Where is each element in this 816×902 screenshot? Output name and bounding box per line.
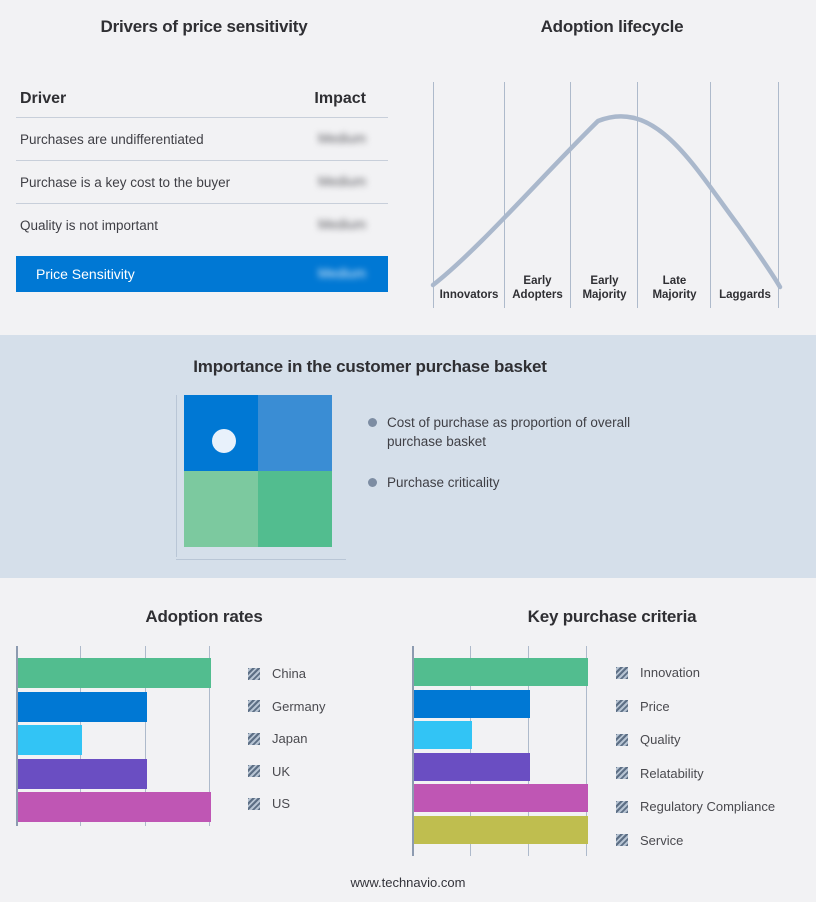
legend-label: Innovation <box>640 665 700 680</box>
adoption-rates-chart: ChinaGermanyJapanUKUS <box>16 646 396 826</box>
legend-item[interactable]: Regulatory Compliance <box>616 799 775 814</box>
table-row[interactable]: Quality is not important Medium <box>16 203 388 246</box>
quadrant-top-left <box>184 395 258 471</box>
bar-innovation[interactable] <box>414 658 588 686</box>
bullet-icon <box>368 478 377 487</box>
summary-label: Price Sensitivity <box>36 266 274 282</box>
stage-label-early-majority: Early Majority <box>571 274 638 302</box>
hatched-swatch-icon <box>616 700 628 712</box>
legend-label: Service <box>640 833 683 848</box>
impact-cell: Medium <box>274 130 384 148</box>
legend-item[interactable]: Quality <box>616 732 680 747</box>
bar-us[interactable] <box>18 792 211 822</box>
hatched-swatch-icon <box>616 734 628 746</box>
legend-label: Regulatory Compliance <box>640 799 775 814</box>
purchase-basket-title: Importance in the customer purchase bask… <box>0 357 740 377</box>
table-row[interactable]: Purchases are undifferentiated Medium <box>16 117 388 160</box>
legend-label: Price <box>640 699 670 714</box>
bar-service[interactable] <box>414 816 588 844</box>
legend-label: Relatability <box>640 766 704 781</box>
bar-china[interactable] <box>18 658 211 688</box>
legend-label: UK <box>272 764 290 779</box>
hatched-swatch-icon <box>248 668 260 680</box>
legend-item[interactable]: US <box>248 796 290 811</box>
stage-label-early-adopters: Early Adopters <box>504 274 571 302</box>
drivers-panel: Drivers of price sensitivity Driver Impa… <box>0 0 408 335</box>
legend-item: Cost of purchase as proportion of overal… <box>368 413 698 451</box>
legend-item[interactable]: Germany <box>248 699 325 714</box>
legend-item[interactable]: Price <box>616 699 670 714</box>
legend-item[interactable]: Innovation <box>616 665 700 680</box>
position-marker-dot <box>212 429 236 453</box>
legend-label: US <box>272 796 290 811</box>
basket-legend: Cost of purchase as proportion of overal… <box>368 413 698 514</box>
legend-label: Quality <box>640 732 680 747</box>
plot-area <box>412 646 598 856</box>
summary-impact-cell: Medium <box>274 265 384 283</box>
table-header-row: Driver Impact <box>16 90 388 117</box>
hatched-swatch-icon <box>248 733 260 745</box>
bar-regulatory-compliance[interactable] <box>414 784 588 812</box>
driver-name: Quality is not important <box>20 218 274 233</box>
hatched-swatch-icon <box>248 700 260 712</box>
impact-cell: Medium <box>274 173 384 191</box>
impact-cell: Medium <box>274 216 384 234</box>
drivers-table: Driver Impact Purchases are undifferenti… <box>16 90 388 292</box>
key-purchase-criteria-chart: InnovationPriceQualityRelatabilityRegula… <box>412 646 812 856</box>
legend-item[interactable]: Japan <box>248 731 307 746</box>
purchase-basket-panel: Importance in the customer purchase bask… <box>0 335 816 578</box>
impact-value: Medium <box>318 217 366 232</box>
hatched-swatch-icon <box>248 798 260 810</box>
legend-label: China <box>272 666 306 681</box>
impact-value: Medium <box>318 174 366 189</box>
bar-quality[interactable] <box>414 721 472 749</box>
footer-url: www.technavio.com <box>0 875 816 890</box>
adoption-lifecycle-panel: Adoption lifecycle Innovators Early Adop… <box>408 0 816 335</box>
bar-uk[interactable] <box>18 759 147 789</box>
stage-label-laggards: Laggards <box>711 288 779 302</box>
column-header-driver: Driver <box>20 90 274 108</box>
legend-item[interactable]: UK <box>248 764 290 779</box>
adoption-rates-panel: Adoption rates ChinaGermanyJapanUKUS <box>0 578 408 902</box>
matrix-grid <box>184 395 332 547</box>
adoption-rates-title: Adoption rates <box>0 607 408 627</box>
column-header-impact: Impact <box>274 90 384 108</box>
driver-name: Purchase is a key cost to the buyer <box>20 175 274 190</box>
legend-item[interactable]: Relatability <box>616 766 704 781</box>
legend-item[interactable]: China <box>248 666 306 681</box>
legend-label: Japan <box>272 731 307 746</box>
lifecycle-stage-labels: Innovators Early Adopters Early Majority… <box>408 0 816 335</box>
price-sensitivity-summary-row[interactable]: Price Sensitivity Medium <box>16 256 388 292</box>
bullet-icon <box>368 418 377 427</box>
legend-label: Purchase criticality <box>387 473 500 492</box>
table-row[interactable]: Purchase is a key cost to the buyer Medi… <box>16 160 388 203</box>
drivers-title: Drivers of price sensitivity <box>0 17 408 37</box>
impact-value: Medium <box>318 131 366 146</box>
hatched-swatch-icon <box>616 834 628 846</box>
stage-label-innovators: Innovators <box>433 288 505 302</box>
bar-japan[interactable] <box>18 725 82 755</box>
stage-label-late-majority: Late Majority <box>638 274 711 302</box>
bar-germany[interactable] <box>18 692 147 722</box>
bar-price[interactable] <box>414 690 530 718</box>
legend-item: Purchase criticality <box>368 473 698 492</box>
hatched-swatch-icon <box>616 767 628 779</box>
key-purchase-criteria-title: Key purchase criteria <box>408 607 816 627</box>
summary-impact-value: Medium <box>318 266 366 281</box>
hatched-swatch-icon <box>248 765 260 777</box>
matrix-x-axis <box>176 559 346 560</box>
legend-label: Cost of purchase as proportion of overal… <box>387 413 645 451</box>
legend-item[interactable]: Service <box>616 833 683 848</box>
key-purchase-criteria-panel: Key purchase criteria InnovationPriceQua… <box>408 578 816 902</box>
matrix-y-axis <box>176 395 177 557</box>
hatched-swatch-icon <box>616 801 628 813</box>
legend-label: Germany <box>272 699 325 714</box>
quadrant-bottom-left <box>184 471 258 547</box>
quadrant-matrix <box>176 395 346 560</box>
hatched-swatch-icon <box>616 667 628 679</box>
driver-name: Purchases are undifferentiated <box>20 132 274 147</box>
plot-area <box>16 646 222 826</box>
bar-relatability[interactable] <box>414 753 530 781</box>
quadrant-bottom-right <box>258 471 332 547</box>
quadrant-top-right <box>258 395 332 471</box>
